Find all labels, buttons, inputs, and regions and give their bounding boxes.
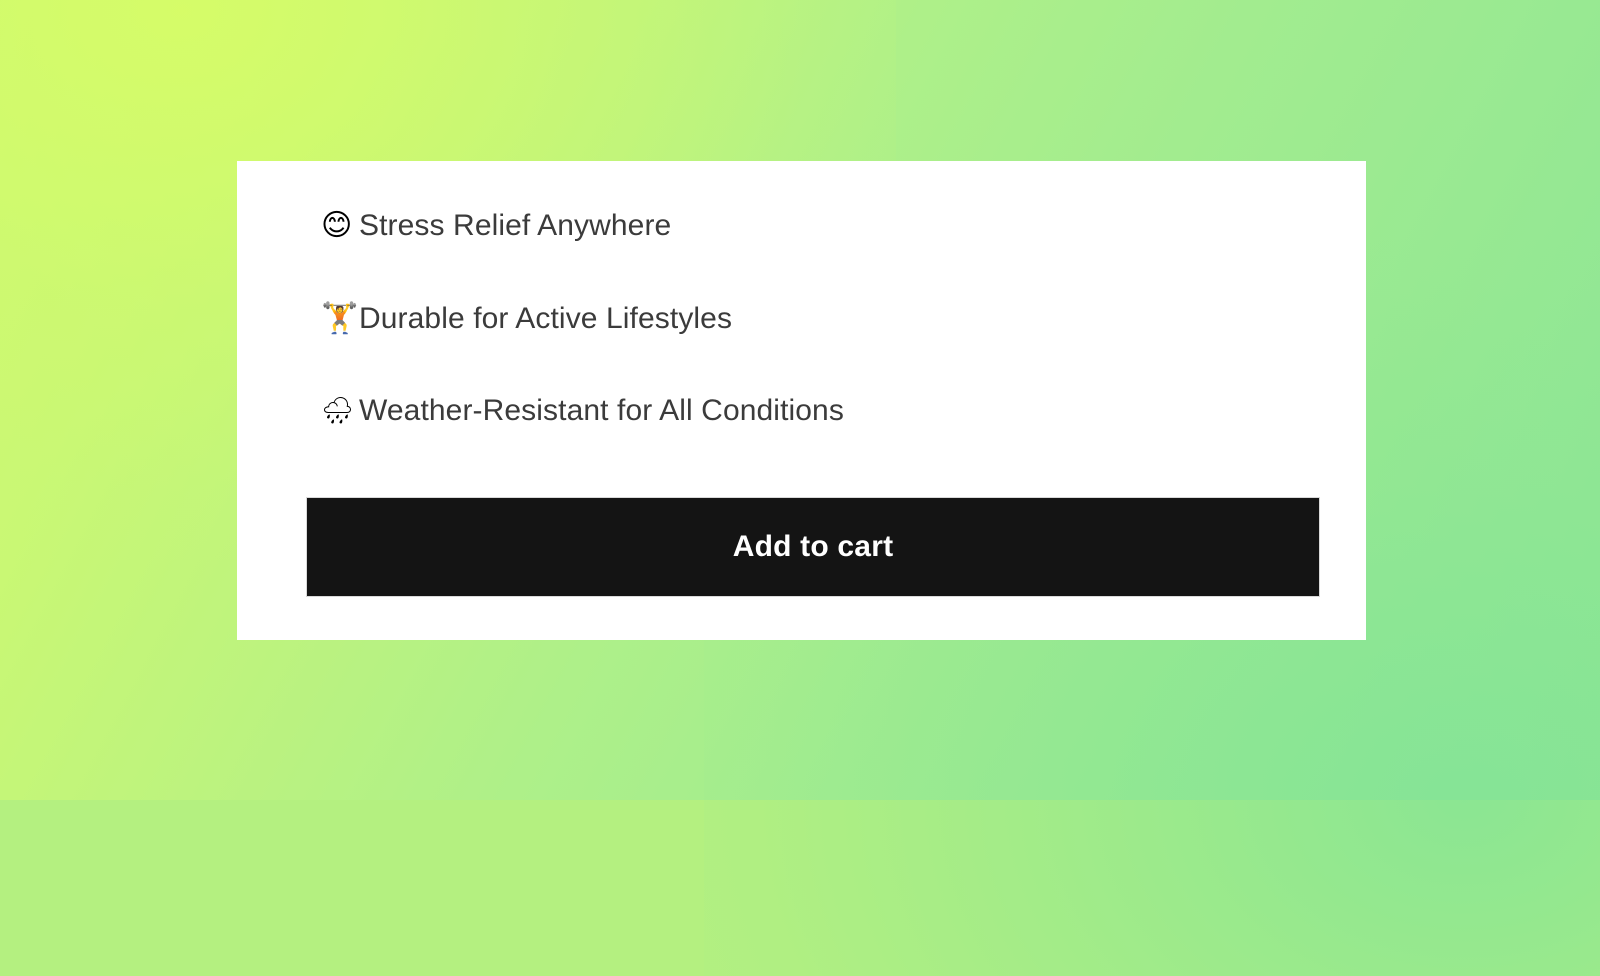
feature-label: Durable for Active Lifestyles [359, 299, 732, 339]
product-feature-card: 😊 Stress Relief Anywhere 🏋 Durable for A… [237, 161, 1366, 640]
smiling-face-with-smiling-eyes-icon: 😊 [321, 206, 359, 246]
list-item: 😊 Stress Relief Anywhere [321, 206, 671, 246]
page-background: 😊 Stress Relief Anywhere 🏋 Durable for A… [0, 0, 1600, 800]
list-item: 🌧 Weather-Resistant for All Conditions [321, 391, 844, 431]
add-to-cart-button[interactable]: Add to cart [306, 497, 1320, 597]
feature-label: Stress Relief Anywhere [359, 206, 671, 246]
list-item: 🏋 Durable for Active Lifestyles [321, 299, 732, 339]
feature-label: Weather-Resistant for All Conditions [359, 391, 844, 431]
cloud-with-rain-icon: 🌧 [321, 391, 359, 431]
weight-lifter-icon: 🏋 [321, 299, 359, 339]
